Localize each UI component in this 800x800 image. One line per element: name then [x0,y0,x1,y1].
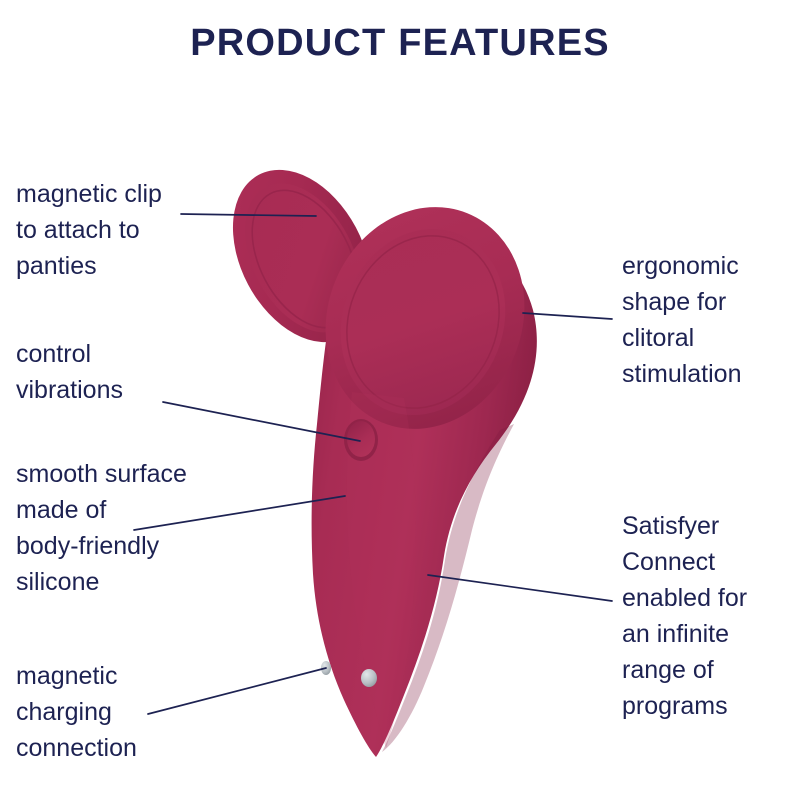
leader-line-ergonomic-shape [523,313,612,319]
control-button[interactable] [344,419,378,461]
feature-label-satisfyer-connect: Satisfyer Connect enabled for an infinit… [622,508,747,724]
feature-label-ergonomic-shape: ergonomic shape for clitoral stimulation [622,248,742,392]
feature-label-smooth-surface: smooth surface made of body-friendly sil… [16,456,187,600]
feature-label-control-vibrations: control vibrations [16,336,123,408]
charging-contact-pin-2 [361,669,377,687]
feature-label-magnetic-clip: magnetic clip to attach to panties [16,176,162,284]
product-features-infographic: PRODUCT FEATURES [0,0,800,800]
leader-line-magnetic-charging [148,668,326,714]
feature-label-magnetic-charging: magnetic charging connection [16,658,137,766]
